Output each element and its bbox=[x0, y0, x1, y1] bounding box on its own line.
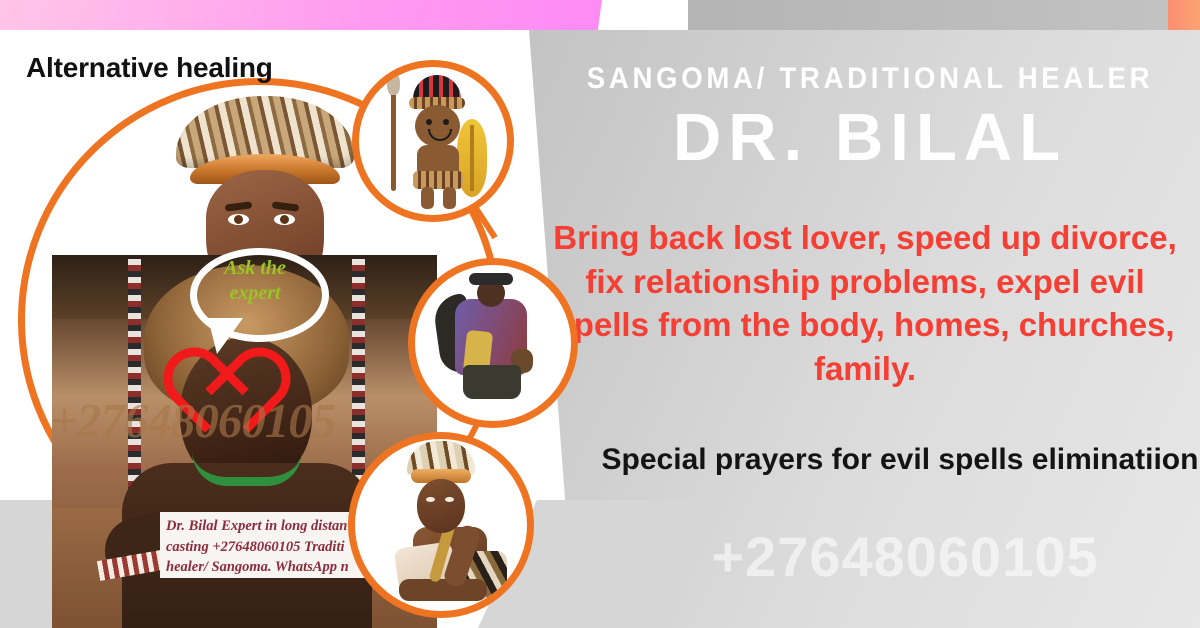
eyebrow-right-icon bbox=[272, 201, 300, 211]
circle-traditional-healer-figure bbox=[408, 258, 578, 428]
page-title: Alternative healing bbox=[26, 52, 273, 84]
figure-legs bbox=[463, 365, 521, 399]
warrior-face bbox=[415, 105, 460, 147]
speech-bubble-label: Ask the expert bbox=[200, 256, 310, 306]
eye-right-icon bbox=[274, 214, 295, 225]
subtitle-kicker: SANGOMA/ TRADITIONAL HEALER bbox=[585, 62, 1155, 96]
warrior-eye-left-icon bbox=[426, 119, 432, 125]
healer-name: DR. BILAL bbox=[560, 104, 1180, 171]
figure-hat-icon bbox=[469, 273, 513, 285]
warrior-leg-right bbox=[443, 187, 456, 209]
photo-watermark-phone: +27648060105 bbox=[50, 392, 450, 449]
special-prayers-text: Special prayers for evil spells eliminat… bbox=[600, 440, 1200, 480]
kneeling-eye-left-icon bbox=[426, 497, 435, 502]
warrior-skirt bbox=[413, 171, 463, 189]
top-pink-bar bbox=[0, 0, 602, 30]
kneeling-face bbox=[417, 479, 465, 533]
eyebrow-left-icon bbox=[225, 201, 253, 211]
poster-canvas: Alternative healing Ask the expert bbox=[0, 0, 1200, 628]
circle-cartoon-zulu-warrior bbox=[352, 60, 514, 222]
photo-beaded-strand-right bbox=[352, 259, 365, 489]
photo-beaded-strand-left bbox=[128, 259, 141, 489]
warrior-eye-right-icon bbox=[443, 119, 449, 125]
spearhead-icon bbox=[387, 71, 400, 95]
warrior-smile-icon bbox=[428, 129, 452, 141]
warrior-leg-left bbox=[421, 187, 434, 209]
kneeling-leg bbox=[399, 579, 487, 601]
ghost-phone-number: +27648060105 bbox=[610, 524, 1200, 589]
eye-left-icon bbox=[228, 214, 249, 225]
circle-kneeling-warrior bbox=[348, 432, 534, 618]
kneeling-eye-right-icon bbox=[445, 497, 454, 502]
services-text: Bring back lost lover, speed up divorce,… bbox=[540, 216, 1190, 390]
spear-icon bbox=[391, 81, 396, 191]
